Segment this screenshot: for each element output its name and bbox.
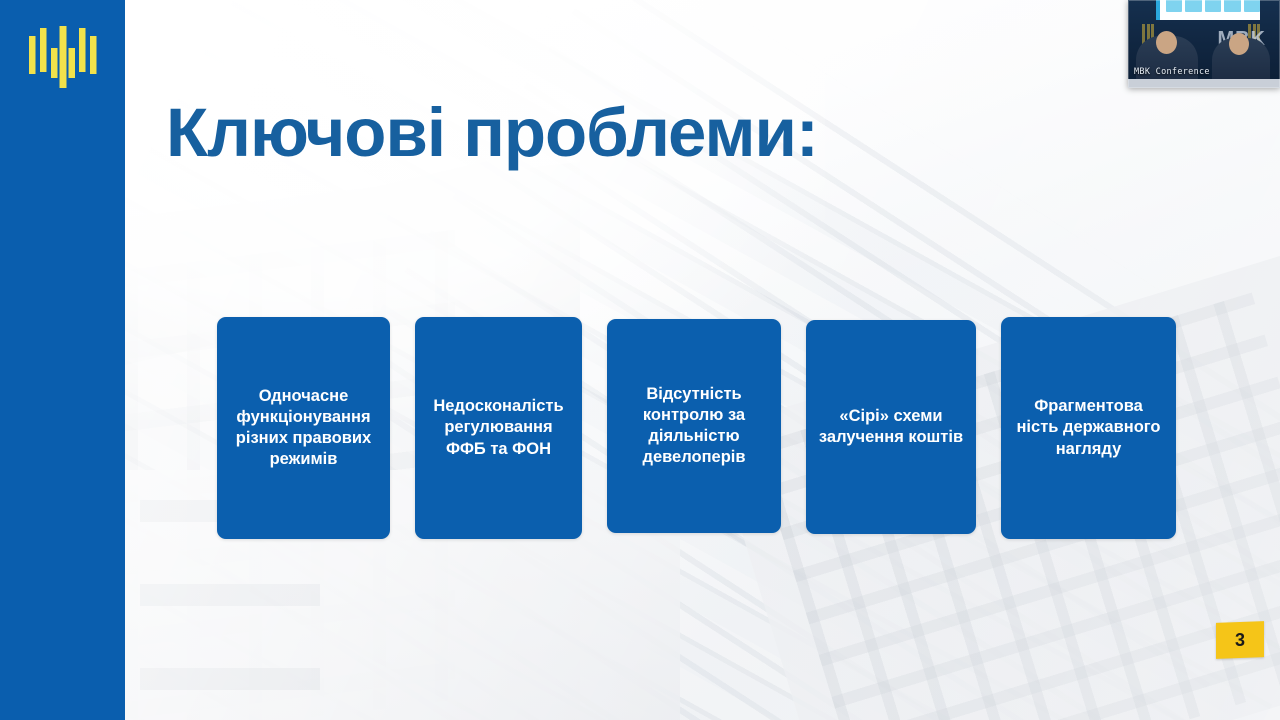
- problem-card-3[interactable]: Відсутність контролю за діяльністю девел…: [607, 319, 781, 533]
- preview-card: [1244, 0, 1260, 12]
- slide-number-badge: 3: [1216, 621, 1264, 659]
- projected-slide-preview: [1156, 0, 1260, 20]
- problem-cards: Одночасне функціонування різних правових…: [217, 317, 1215, 539]
- slide-title: Ключові проблеми:: [166, 93, 818, 172]
- problem-card-4-text: «Сірі» схеми залучення коштів: [816, 406, 966, 448]
- speaker-left-head: [1156, 31, 1177, 54]
- problem-card-3-text: Відсутність контролю за діяльністю девел…: [617, 384, 771, 468]
- problem-card-5[interactable]: Фрагментова ність державного нагляду: [1001, 317, 1176, 539]
- preview-card: [1185, 0, 1201, 12]
- preview-card: [1166, 0, 1182, 12]
- problem-card-1-text: Одночасне функціонування різних правових…: [227, 386, 380, 470]
- ukrainian-trident-logo: [29, 26, 97, 90]
- slide-number-text: 3: [1235, 630, 1245, 651]
- webcam-label: MBK Conference: [1134, 67, 1210, 77]
- problem-card-1[interactable]: Одночасне функціонування різних правових…: [217, 317, 390, 539]
- presentation-slide: Ключові проблеми: Одночасне функціонуван…: [0, 0, 1280, 720]
- problem-card-5-text: Фрагментова ність державного нагляду: [1011, 396, 1166, 459]
- preview-card: [1224, 0, 1240, 12]
- problem-card-2-text: Недосконалість регулювання ФФБ та ФОН: [425, 396, 572, 459]
- problem-card-2[interactable]: Недосконалість регулювання ФФБ та ФОН: [415, 317, 582, 539]
- left-blue-rail: [0, 0, 125, 720]
- webcam-overlay[interactable]: MBK MBK Conference: [1128, 0, 1280, 88]
- preview-card: [1205, 0, 1221, 12]
- speaker-right-head: [1229, 33, 1249, 55]
- problem-card-4[interactable]: «Сірі» схеми залучення коштів: [806, 320, 976, 534]
- conference-desk: [1128, 79, 1280, 88]
- preview-card-row: [1166, 0, 1260, 12]
